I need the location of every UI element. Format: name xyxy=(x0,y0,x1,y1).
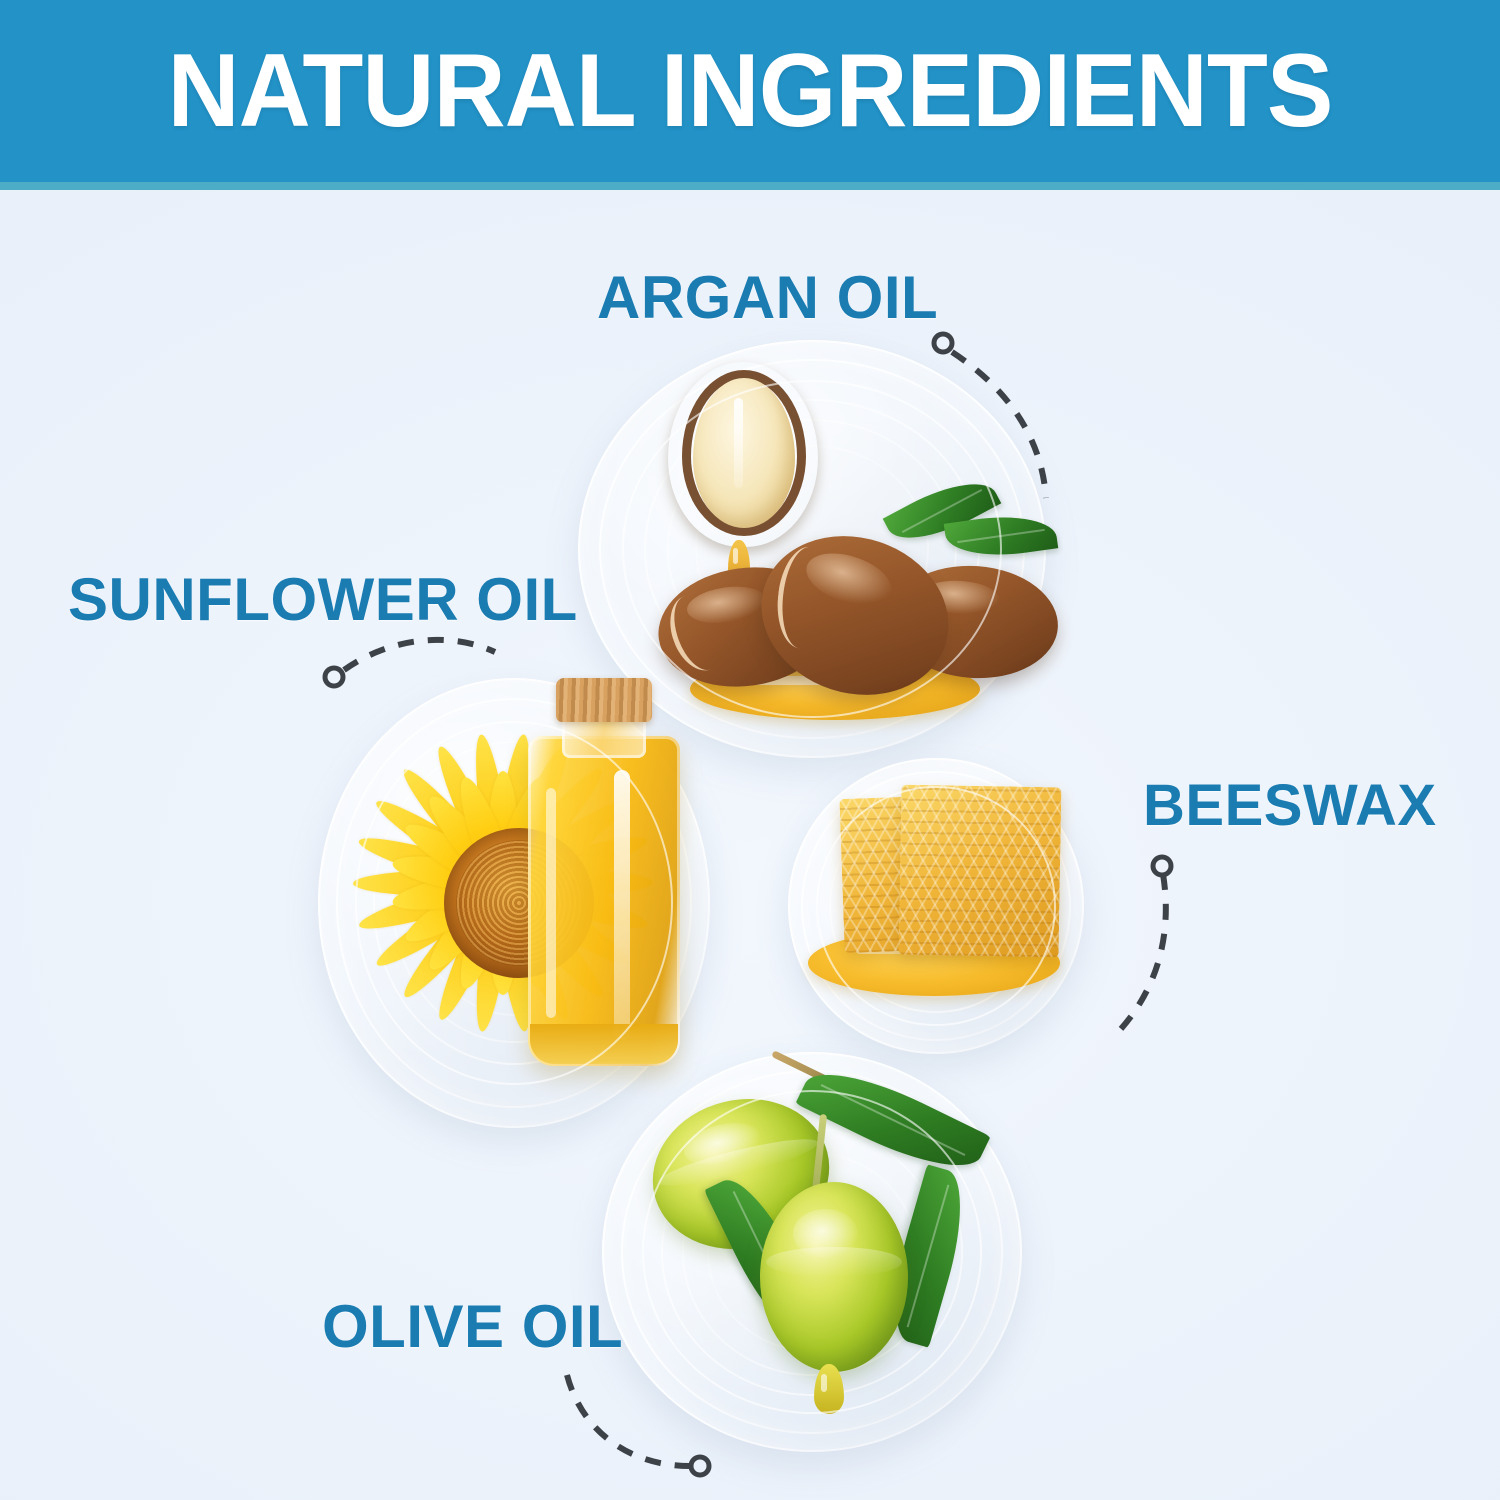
sunflower-petal xyxy=(500,868,616,917)
sunflower-petal xyxy=(353,870,503,896)
argan-kernel-highlight xyxy=(734,398,743,488)
sunflower-petal xyxy=(468,733,516,885)
sunflower-petal xyxy=(489,878,555,994)
argan-nut-whole-icon xyxy=(886,560,1061,683)
sunflower-petal xyxy=(488,883,518,995)
dish-ring xyxy=(695,445,929,654)
sunflower-petal xyxy=(429,878,515,1025)
ingredient-dish-beeswax xyxy=(788,758,1084,1054)
sunflower-petal xyxy=(491,878,577,1025)
sunflower-petal xyxy=(499,871,650,938)
sunflower-petal xyxy=(451,878,517,994)
dish-ring xyxy=(667,419,957,678)
ingredient-label-beeswax: BEESWAX xyxy=(1143,772,1437,839)
sunflower-center-icon xyxy=(444,828,594,978)
header-banner-edge xyxy=(0,182,1500,190)
dish-ring xyxy=(644,399,981,700)
dish-ring xyxy=(416,791,612,1016)
sunflower-petal xyxy=(496,814,608,896)
sunflower-petal xyxy=(390,868,506,917)
oil-drop-icon xyxy=(814,1364,844,1414)
sunflower-petal xyxy=(490,733,537,885)
sunflower-petal xyxy=(355,829,506,896)
leaf-icon xyxy=(879,1164,977,1348)
honeycomb-block-icon xyxy=(899,785,1062,958)
sunflower-petal xyxy=(499,828,650,896)
dish-ring xyxy=(844,814,1028,998)
argan-nut-whole-icon xyxy=(651,556,841,697)
sunflower-petal xyxy=(390,849,506,898)
sunflower-petal xyxy=(420,788,515,893)
dish-ring xyxy=(373,741,655,1065)
sunflower-petal xyxy=(503,870,653,896)
bottle-highlight xyxy=(546,788,556,1018)
oil-pool-icon xyxy=(690,658,980,720)
sunflower-petal xyxy=(493,874,611,1004)
sunflower-petal xyxy=(395,875,513,1006)
dish-ring xyxy=(862,832,1010,980)
sunflower-petal xyxy=(428,741,514,888)
argan-shell-rim xyxy=(682,370,806,536)
sunflower-petal xyxy=(493,761,611,892)
sunflower-petal xyxy=(399,870,511,952)
sunflower-petal xyxy=(492,873,587,978)
connector-beeswax xyxy=(1120,857,1171,1030)
cork-stopper-icon xyxy=(556,678,652,722)
sunflower-petal xyxy=(451,773,517,889)
olive-icon xyxy=(760,1182,908,1372)
leaf-icon xyxy=(704,1168,828,1349)
sunflower-petal xyxy=(420,873,515,978)
dish-ring xyxy=(392,764,635,1043)
sunflower-petal xyxy=(356,871,507,939)
ingredient-label-argan: ARGAN OIL xyxy=(597,263,938,332)
sunflower-petal xyxy=(496,870,608,952)
oil-drop-icon xyxy=(728,540,750,584)
sunflower-petal xyxy=(370,791,510,894)
olive-stem-icon xyxy=(812,1114,827,1192)
page-title: NATURAL INGREDIENTS xyxy=(30,0,1470,182)
dish-ring xyxy=(661,1108,963,1396)
sunflower-petal xyxy=(500,849,616,898)
sunflower-petal xyxy=(496,872,636,975)
sunflower-petal xyxy=(496,791,636,894)
ingredient-dish-olive xyxy=(602,1052,1022,1452)
sunflower-petal xyxy=(399,814,511,896)
oil-bottle-icon xyxy=(528,736,680,1066)
sunflower-petal xyxy=(490,881,538,1033)
infographic-canvas: NATURAL INGREDIENTS xyxy=(0,0,1500,1500)
argan-kernel-icon xyxy=(693,378,795,528)
olive-icon xyxy=(637,1081,846,1268)
sunflower-petal xyxy=(395,761,513,891)
leaf-icon xyxy=(944,509,1058,564)
sunflower-petal xyxy=(469,881,516,1033)
sunflower-petal xyxy=(492,788,587,893)
ingredient-label-olive: OLIVE OIL xyxy=(322,1292,623,1361)
honeycomb-icon xyxy=(788,758,1084,1054)
sunflower-petal xyxy=(488,771,518,883)
sunflower-petal xyxy=(489,773,555,889)
sunflower-petal xyxy=(370,872,510,975)
sunflower-petal xyxy=(491,741,577,888)
leaf-icon xyxy=(883,466,1002,556)
olive-fruit-icon xyxy=(602,1052,1022,1452)
bottle-highlight xyxy=(614,770,630,1040)
leaf-icon xyxy=(795,1053,990,1187)
dish-ring xyxy=(707,1152,917,1352)
dish-ring xyxy=(829,799,1042,1012)
dish-ring xyxy=(682,1128,942,1376)
honeycomb-block-icon xyxy=(839,793,1022,953)
sunflower-petals-icon xyxy=(338,718,668,1048)
honey-pool-icon xyxy=(808,930,1060,996)
ingredient-label-sunflower: SUNFLOWER OIL xyxy=(68,565,578,634)
